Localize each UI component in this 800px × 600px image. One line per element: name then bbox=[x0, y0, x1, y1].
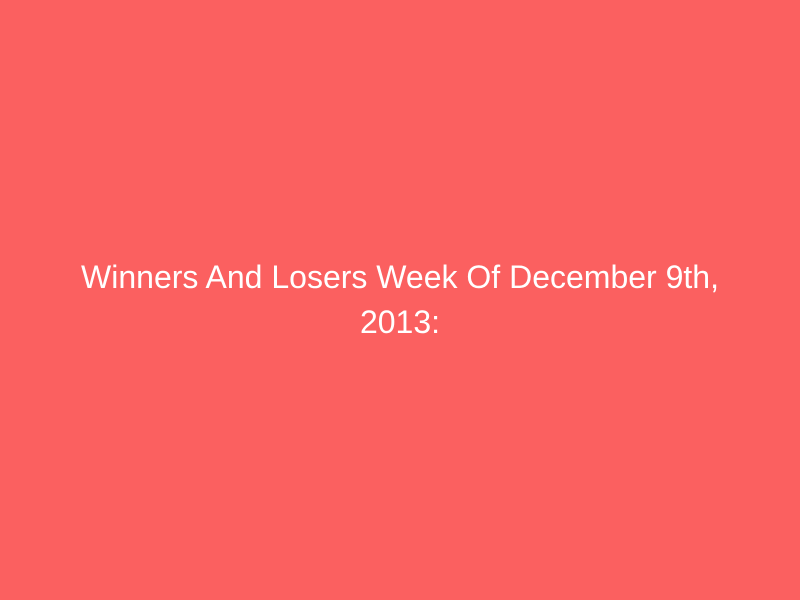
placeholder-canvas: Winners And Losers Week Of December 9th,… bbox=[0, 0, 800, 600]
placeholder-title-text: Winners And Losers Week Of December 9th,… bbox=[64, 255, 736, 345]
placeholder-title-block: Winners And Losers Week Of December 9th,… bbox=[60, 255, 740, 345]
